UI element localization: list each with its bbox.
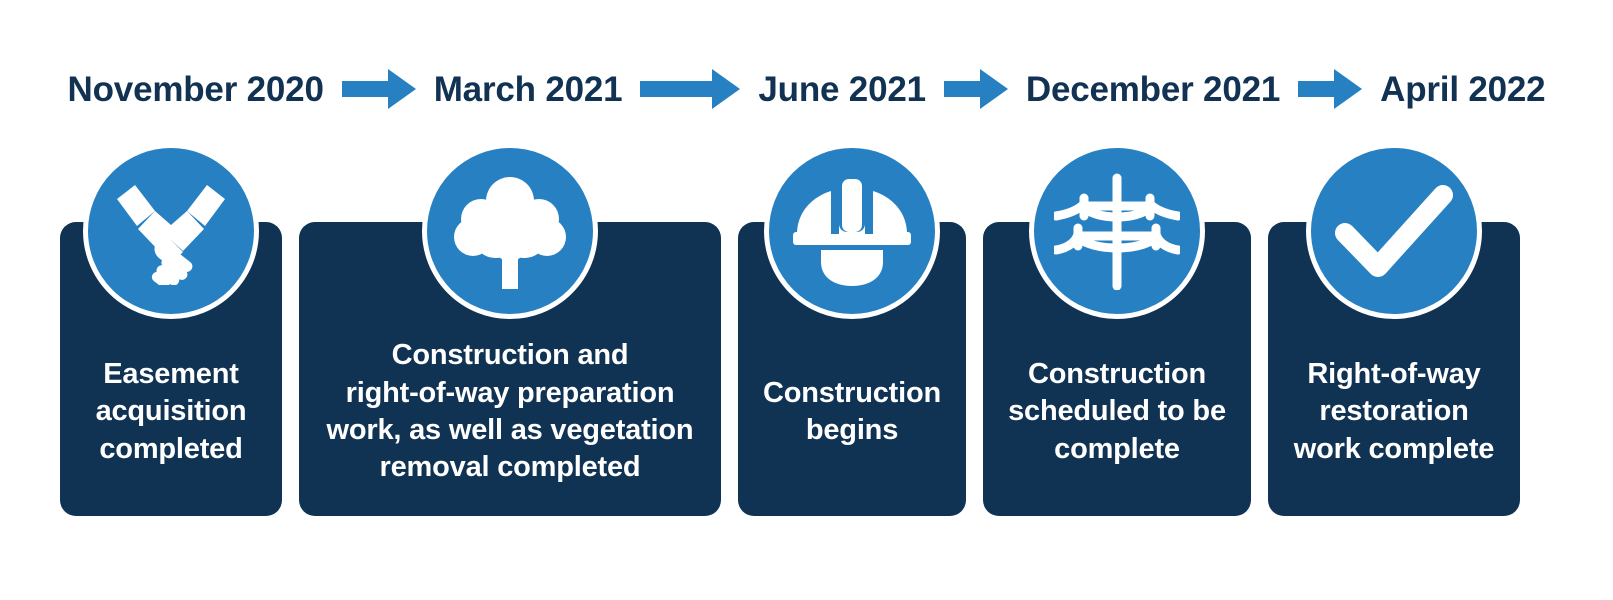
power-line-tower-icon [1029,143,1205,319]
timeline-date-1: November 2020 [56,72,336,107]
timeline-cards-row: Easement acquisition completed [60,222,1553,516]
timeline-stage-5: Right-of-way restoration work complete [1268,222,1520,516]
tree-icon [422,143,598,319]
timeline-date-2: March 2021 [422,72,635,107]
timeline-card-2-text: Construction and right-of-way preparatio… [309,337,711,487]
arrow-right-icon [634,69,746,109]
timeline-stage-1: Easement acquisition completed [60,222,282,516]
timeline-date-4: December 2021 [1014,72,1292,107]
checkmark-icon [1306,143,1482,319]
project-timeline: November 2020 March 2021 June 2021 Decem… [0,0,1613,600]
timeline-date-5: April 2022 [1368,72,1557,107]
timeline-stage-4: Construction scheduled to be complete [983,222,1251,516]
arrow-right-icon [938,69,1014,109]
hard-hat-icon [764,143,940,319]
timeline-stage-2: Construction and right-of-way preparatio… [299,222,721,516]
timeline-card-4-text: Construction scheduled to be complete [993,356,1241,468]
timeline-card-3-text: Construction begins [748,375,956,450]
timeline-card-5-text: Right-of-way restoration work complete [1278,356,1510,468]
timeline-stage-3: Construction begins [738,222,966,516]
timeline-card-1-text: Easement acquisition completed [70,356,272,468]
handshake-icon [83,143,259,319]
timeline-date-3: June 2021 [746,72,937,107]
arrow-right-icon [336,69,422,109]
arrow-right-icon [1292,69,1368,109]
timeline-header-row: November 2020 March 2021 June 2021 Decem… [0,58,1613,120]
